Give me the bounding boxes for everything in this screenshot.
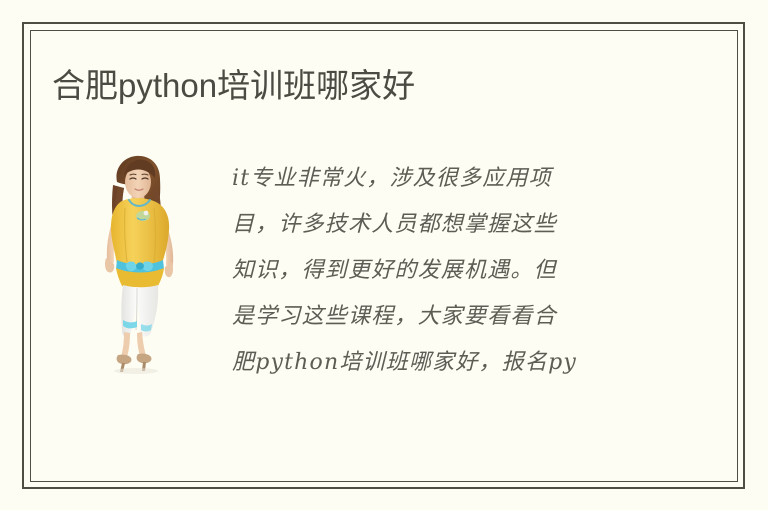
body-line: 知识，得到更好的发展机遇。但: [232, 248, 652, 294]
body-line: it专业非常火，涉及很多应用项: [232, 156, 652, 202]
body-line: 目，许多技术人员都想掌握这些: [232, 202, 652, 248]
page-title: 合肥python培训班哪家好: [52, 62, 692, 110]
woman-photo: [80, 152, 200, 374]
body-line: 肥python培训班哪家好，报名py: [232, 340, 652, 386]
content-row: it专业非常火，涉及很多应用项 目，许多技术人员都想掌握这些 知识，得到更好的发…: [52, 150, 692, 390]
body-line: 是学习这些课程，大家要看看合: [232, 294, 652, 340]
article-body: it专业非常火，涉及很多应用项 目，许多技术人员都想掌握这些 知识，得到更好的发…: [232, 156, 652, 386]
article-card: 合肥python培训班哪家好: [0, 0, 768, 510]
